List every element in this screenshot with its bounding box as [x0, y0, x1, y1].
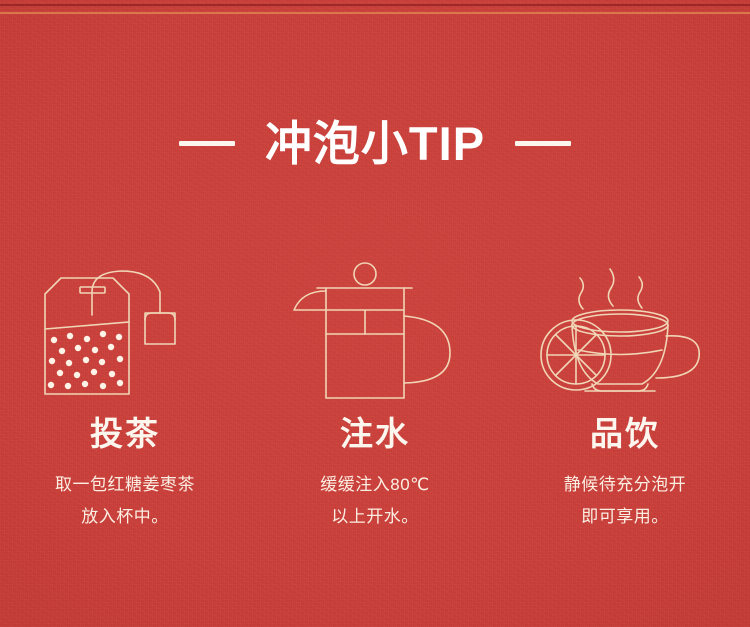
heading-left-rule-icon — [179, 141, 235, 146]
teacup-lemon-icon — [530, 258, 720, 408]
top-seam-dark-line — [0, 4, 750, 6]
teacup-lemon-icon-svg — [530, 258, 720, 408]
step-description-line-2: 即可享用。 — [564, 501, 687, 532]
tea-bag-icon — [30, 258, 220, 408]
lemon-slice-icon — [541, 320, 611, 390]
heading-right-rule-icon — [515, 141, 571, 146]
brewing-tips-panel: 冲泡小TIP — [0, 0, 750, 627]
step-item-pin-yin: 品饮 静候待充分泡开 即可享用。 — [500, 258, 750, 532]
tea-bag-icon-svg — [30, 258, 220, 408]
step-item-tou-cha: 投茶 取一包红糖姜枣茶 放入杯中。 — [0, 258, 250, 532]
page-title: 冲泡小TIP — [265, 120, 485, 167]
kettle-icon — [280, 258, 470, 408]
step-description-line-1: 缓缓注入80℃ — [320, 469, 430, 500]
step-description: 缓缓注入80℃ 以上开水。 — [320, 469, 430, 532]
step-description-line-2: 放入杯中。 — [55, 501, 195, 532]
step-description-line-1: 静候待充分泡开 — [564, 469, 687, 500]
section-heading: 冲泡小TIP — [0, 112, 750, 174]
step-description-line-2: 以上开水。 — [320, 501, 430, 532]
steps-row: 投茶 取一包红糖姜枣茶 放入杯中。 — [0, 258, 750, 532]
step-title: 注水 — [340, 416, 410, 452]
step-description-line-1: 取一包红糖姜枣茶 — [55, 469, 195, 500]
step-title: 投茶 — [90, 416, 160, 452]
tea-leaf-dots — [48, 331, 123, 389]
kettle-icon-svg — [280, 258, 470, 408]
step-item-zhu-shui: 注水 缓缓注入80℃ 以上开水。 — [250, 258, 500, 532]
steam-icon — [579, 269, 642, 309]
step-title: 品饮 — [590, 416, 660, 452]
top-seam-gold-line — [0, 12, 750, 14]
step-description: 取一包红糖姜枣茶 放入杯中。 — [55, 469, 195, 532]
step-description: 静候待充分泡开 即可享用。 — [564, 469, 687, 532]
